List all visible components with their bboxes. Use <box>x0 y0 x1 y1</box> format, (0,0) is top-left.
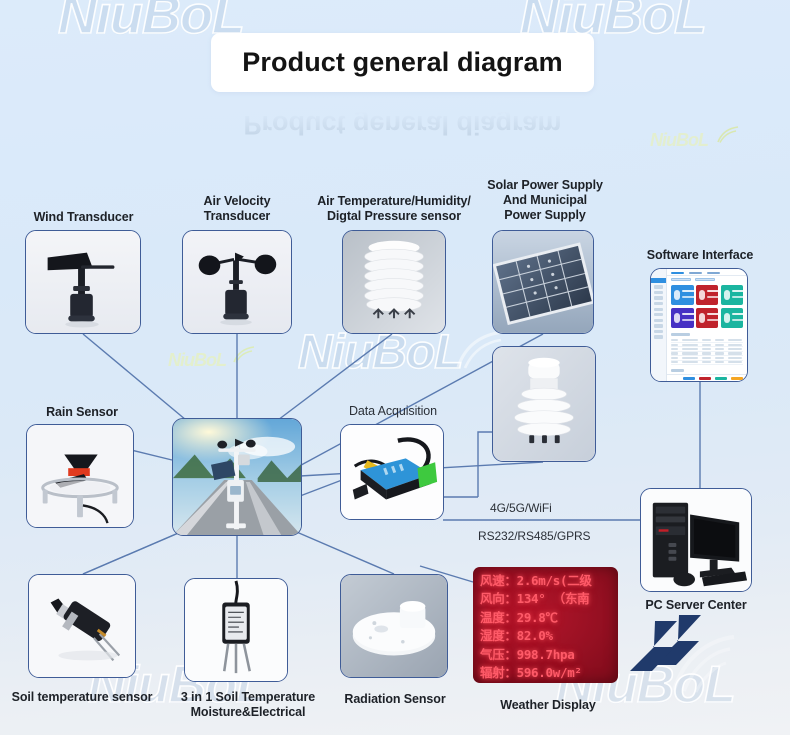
label-wired-protocols: RS232/RS485/GPRS <box>478 529 628 543</box>
label-radiation-sensor: Radiation Sensor <box>330 692 460 707</box>
weather-row-temperature: 温度：29.8℃ <box>480 609 618 627</box>
soil-temperature-sensor-image <box>29 575 135 677</box>
weather-row-wind-direction: 风向：134° （东南 <box>480 590 618 608</box>
card-rain-sensor[interactable] <box>26 424 134 528</box>
weather-row-humidity: 湿度：82.0% <box>480 627 618 645</box>
weather-row-wind-speed: 风速：2.6m/s(二级 <box>480 572 618 590</box>
card-software-interface[interactable] <box>650 268 748 382</box>
card-wind-transducer[interactable] <box>25 230 141 334</box>
label-rain-sensor: Rain Sensor <box>12 405 152 420</box>
label-soil-3in1-sensor: 3 in 1 Soil Temperature Moisture&Electri… <box>158 690 338 720</box>
dashboard-topbar <box>667 269 747 276</box>
weather-display-panel[interactable]: 风速：2.6m/s(二级 风向：134° （东南 温度：29.8℃ 湿度：82.… <box>473 567 618 683</box>
weather-row-pressure: 气压：998.7hpa <box>480 646 618 664</box>
software-dashboard <box>651 269 747 381</box>
label-air-velocity-transducer: Air Velocity Transducer <box>167 194 307 224</box>
multi-sensor-shelter-image <box>493 347 595 461</box>
soil-3in1-sensor-image <box>185 579 287 681</box>
card-data-acquisition[interactable] <box>340 424 444 520</box>
card-soil-temperature-sensor[interactable] <box>28 574 136 678</box>
label-soil-temperature-sensor: Soil temperature sensor <box>6 690 158 705</box>
dashboard-metric-tiles <box>667 282 747 331</box>
pc-server-image <box>641 489 751 591</box>
dashboard-sidebar <box>651 269 667 381</box>
label-pc-server-center: PC Server Center <box>630 598 762 613</box>
radiation-sensor-image <box>341 575 447 677</box>
card-solar-power[interactable] <box>492 230 594 334</box>
card-air-velocity-transducer[interactable] <box>182 230 292 334</box>
card-radiation-sensor[interactable] <box>340 574 448 678</box>
card-multi-sensor-shelter[interactable] <box>492 346 596 462</box>
card-soil-3in1-sensor[interactable] <box>184 578 288 682</box>
label-air-temp-humidity: Air Temperature/Humidity/ Digtal Pressur… <box>310 194 478 224</box>
wind-transducer-image <box>26 231 140 333</box>
solar-panel-image <box>493 231 593 333</box>
card-air-temp-humidity[interactable] <box>342 230 446 334</box>
page-title-card: Product general diagram <box>211 33 594 92</box>
air-velocity-transducer-image <box>183 231 291 333</box>
label-weather-display: Weather Display <box>486 698 610 713</box>
label-solar-power: Solar Power Supply And Municipal Power S… <box>470 178 620 222</box>
weather-station-image <box>173 419 301 535</box>
weather-row-radiation: 辐射：596.0w/m² <box>480 664 618 682</box>
rain-sensor-image <box>27 425 133 527</box>
dashboard-legend <box>667 374 747 381</box>
data-acquisition-image <box>341 425 443 519</box>
dashboard-data-table <box>667 331 747 375</box>
air-temp-humidity-image <box>343 231 445 333</box>
label-wind-transducer: Wind Transducer <box>6 210 161 225</box>
label-software-interface: Software Interface <box>630 248 770 263</box>
label-data-acquisition: Data Acquisition <box>333 404 453 419</box>
card-weather-station-hub[interactable] <box>172 418 302 536</box>
page-title: Product general diagram <box>242 47 562 78</box>
data-flow-arrows <box>626 615 704 676</box>
label-wireless-protocols: 4G/5G/WiFi <box>490 501 620 515</box>
card-pc-server-center[interactable] <box>640 488 752 592</box>
